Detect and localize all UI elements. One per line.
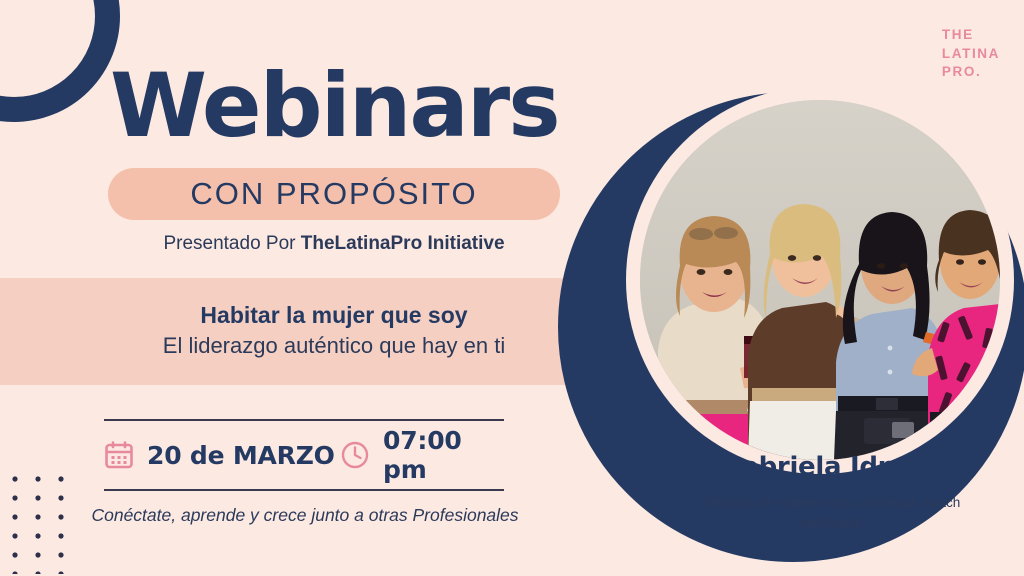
- speaker-bio: Mentora de mujeres con conciencia. coach…: [640, 493, 1024, 532]
- event-date: 20 de MARZO: [104, 440, 340, 470]
- page-title: Webinars: [110, 62, 559, 150]
- subtitle-pill: CON PROPÓSITO: [108, 168, 560, 220]
- brand-logo: THE LATINA PRO.: [942, 26, 1000, 82]
- tagline: Conéctate, aprende y crece junto a otras…: [90, 505, 520, 526]
- presented-by-prefix: Presentado Por: [163, 233, 300, 254]
- event-time: 07:00 pm: [340, 426, 504, 484]
- clock-icon: [340, 440, 370, 470]
- topic-block: Habitar la mujer que soy El liderazgo au…: [108, 300, 560, 362]
- logo-line-1: THE: [942, 26, 1000, 45]
- event-details: 20 de MARZO 07:00 pm: [104, 430, 504, 480]
- event-time-text: 07:00 pm: [383, 426, 504, 484]
- logo-line-3: PRO.: [942, 63, 1000, 82]
- divider-bottom: [104, 489, 504, 491]
- subtitle-text: CON PROPÓSITO: [190, 176, 477, 212]
- divider-top: [104, 419, 504, 421]
- topic-line-2: El liderazgo auténtico que hay en ti: [108, 331, 560, 362]
- group-photo: [640, 100, 1000, 460]
- calendar-icon: [104, 440, 134, 470]
- presented-by: Presentado Por TheLatinaPro Initiative: [108, 233, 560, 255]
- presented-by-brand: TheLatinaPro Initiative: [301, 233, 505, 254]
- speaker-name: Gabriela Idrogo: [640, 452, 1024, 482]
- topic-line-1: Habitar la mujer que soy: [108, 300, 560, 331]
- flyer-canvas: Webinars CON PROPÓSITO Presentado Por Th…: [0, 0, 1024, 576]
- logo-line-2: LATINA: [942, 45, 1000, 64]
- main-content: Webinars CON PROPÓSITO Presentado Por Th…: [0, 0, 560, 576]
- event-date-text: 20 de MARZO: [147, 441, 335, 470]
- speaker-block: Gabriela Idrogo Mentora de mujeres con c…: [640, 452, 1024, 532]
